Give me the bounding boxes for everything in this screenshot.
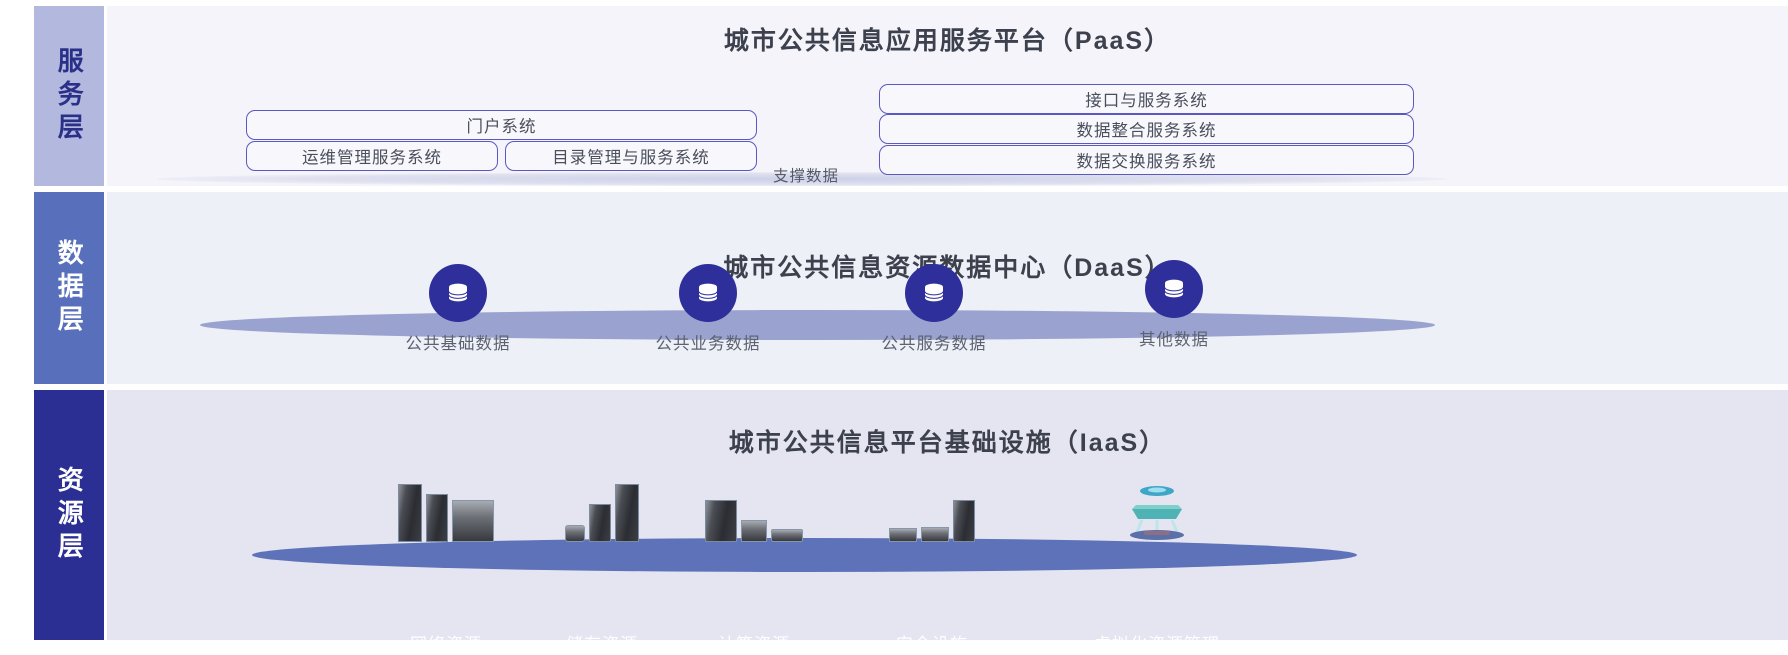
resource-node-label: 网络资源: [410, 630, 482, 655]
service-box-portal[interactable]: 门户系统: [246, 110, 757, 140]
service-box-data-integration[interactable]: 数据整合服务系统: [879, 114, 1414, 144]
data-node-public-business[interactable]: 公共业务数据: [679, 264, 737, 322]
layer-spine-label-resource: 资源层: [55, 466, 84, 565]
service-box-data-exchange[interactable]: 数据交换服务系统: [879, 145, 1414, 175]
architecture-diagram: 服务层 城市公共信息应用服务平台（PaaS） 门户系统 运维管理服务系统 目录管…: [0, 0, 1788, 649]
layer-title-paas: 城市公共信息应用服务平台（PaaS）: [107, 21, 1788, 57]
data-node-label: 其他数据: [1139, 326, 1209, 350]
storage-tower-icon: [527, 480, 677, 542]
database-icon: [429, 264, 487, 322]
resource-node-label: 储存资源: [566, 630, 638, 655]
resource-node-label: 安全设施: [896, 630, 968, 655]
layer-panel-resource: 城市公共信息平台基础设施（IaaS） 网络资源 储存资源: [107, 390, 1788, 640]
service-box-catalog-management[interactable]: 目录管理与服务系统: [505, 141, 757, 171]
resource-node-label: 计算资源: [718, 630, 790, 655]
layer-spine-service: 服务层: [34, 6, 104, 186]
data-node-other[interactable]: 其他数据: [1145, 260, 1203, 318]
data-node-public-basic[interactable]: 公共基础数据: [429, 264, 487, 322]
security-appliance-icon: [857, 480, 1007, 542]
connector-label-support-data: 支撑数据: [773, 164, 839, 186]
database-icon: [1145, 260, 1203, 318]
resource-node-label: 虚拟化资源管理: [1094, 630, 1220, 655]
layer-spine-label-service: 服务层: [55, 47, 84, 146]
resource-node-security[interactable]: 安全设施: [857, 480, 1007, 542]
layer-spine-label-data: 数据层: [55, 239, 84, 338]
data-node-label: 公共业务数据: [656, 330, 761, 354]
layer-title-iaas: 城市公共信息平台基础设施（IaaS）: [107, 423, 1788, 459]
layer-panel-service: 城市公共信息应用服务平台（PaaS） 门户系统 运维管理服务系统 目录管理与服务…: [107, 6, 1788, 186]
resource-platform-ellipse: [252, 538, 1357, 572]
layer-spine-resource: 资源层: [34, 390, 104, 640]
service-box-interface-service[interactable]: 接口与服务系统: [879, 84, 1414, 114]
data-node-public-service[interactable]: 公共服务数据: [905, 264, 963, 322]
data-node-label: 公共服务数据: [882, 330, 987, 354]
resource-node-storage[interactable]: 储存资源: [527, 480, 677, 542]
layer-spine-data: 数据层: [34, 192, 104, 384]
data-node-label: 公共基础数据: [406, 330, 511, 354]
compute-server-icon: [679, 480, 829, 542]
resource-node-virtualization[interactable]: 虚拟化资源管理: [1082, 480, 1232, 542]
virtualization-icon: [1082, 480, 1232, 542]
resource-node-network[interactable]: 网络资源: [371, 480, 521, 542]
service-box-ops-management[interactable]: 运维管理服务系统: [246, 141, 498, 171]
resource-node-compute[interactable]: 计算资源: [679, 480, 829, 542]
server-rack-icon: [371, 480, 521, 542]
layer-panel-data: 城市公共信息资源数据中心（DaaS） 公共基础数据: [107, 192, 1788, 384]
data-platform-ellipse: [200, 310, 1435, 340]
database-icon: [905, 264, 963, 322]
database-icon: [679, 264, 737, 322]
